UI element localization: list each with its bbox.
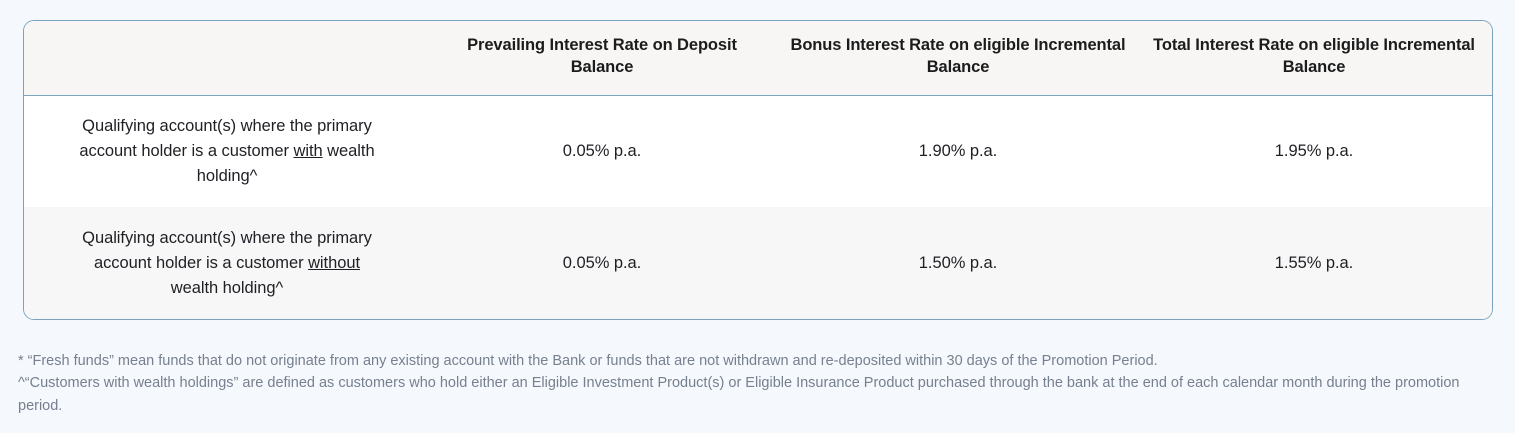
cell-prevailing-rate: 0.05% p.a.: [424, 207, 780, 319]
cell-bonus-rate: 1.90% p.a.: [780, 95, 1136, 207]
table-row: Qualifying account(s) where the primary …: [24, 207, 1492, 319]
table-row: Qualifying account(s) where the primary …: [24, 95, 1492, 207]
column-header-prevailing-rate: Prevailing Interest Rate on Deposit Bala…: [424, 21, 780, 95]
interest-rate-table-page: Prevailing Interest Rate on Deposit Bala…: [0, 0, 1515, 433]
footnote-wealth-holdings: ^“Customers with wealth holdings” are de…: [18, 372, 1498, 417]
footnote-fresh-funds: * “Fresh funds” mean funds that do not o…: [18, 350, 1498, 372]
footnotes-block: * “Fresh funds” mean funds that do not o…: [18, 350, 1498, 417]
table-header: Prevailing Interest Rate on Deposit Bala…: [24, 21, 1492, 95]
rate-table-container: Prevailing Interest Rate on Deposit Bala…: [23, 20, 1493, 320]
column-header-description: [24, 21, 424, 95]
column-header-total-rate: Total Interest Rate on eligible Incremen…: [1136, 21, 1492, 95]
table-header-row: Prevailing Interest Rate on Deposit Bala…: [24, 21, 1492, 95]
cell-prevailing-rate: 0.05% p.a.: [424, 95, 780, 207]
description-emphasis: with: [293, 142, 322, 160]
cell-account-description: Qualifying account(s) where the primary …: [24, 207, 424, 319]
description-text-tail: wealth holding^: [171, 279, 284, 297]
cell-bonus-rate: 1.50% p.a.: [780, 207, 1136, 319]
column-header-bonus-rate: Bonus Interest Rate on eligible Incremen…: [780, 21, 1136, 95]
cell-account-description: Qualifying account(s) where the primary …: [24, 95, 424, 207]
table-body: Qualifying account(s) where the primary …: [24, 95, 1492, 319]
description-emphasis: without: [308, 254, 360, 272]
interest-rate-table: Prevailing Interest Rate on Deposit Bala…: [24, 21, 1492, 319]
cell-total-rate: 1.55% p.a.: [1136, 207, 1492, 319]
cell-total-rate: 1.95% p.a.: [1136, 95, 1492, 207]
